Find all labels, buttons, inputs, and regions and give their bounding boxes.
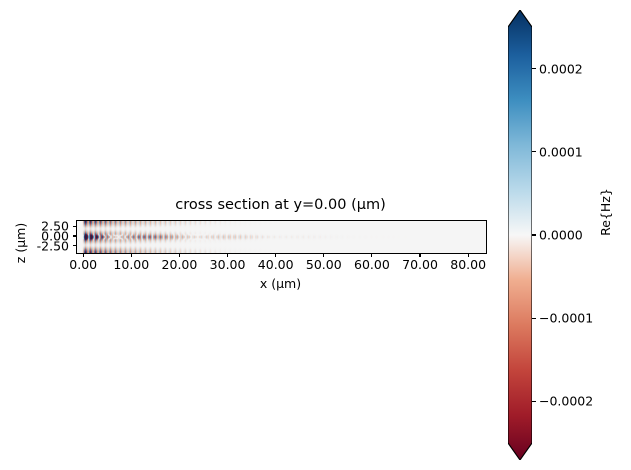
colorbar-tick-mark bbox=[532, 68, 536, 69]
colorbar-gradient bbox=[508, 10, 532, 460]
colorbar-tick-label: −0.0002 bbox=[539, 395, 593, 408]
colorbar-tick-label: 0.0000 bbox=[539, 229, 583, 242]
y-tick-label: -2.50 bbox=[37, 239, 69, 252]
x-tick-label: 40.00 bbox=[258, 257, 294, 272]
cross-section-heatmap-axes bbox=[76, 220, 487, 254]
x-tick-label: 10.00 bbox=[113, 257, 149, 272]
y-tick-mark bbox=[73, 245, 77, 246]
x-tick-label: 0.00 bbox=[69, 257, 97, 272]
colorbar-tick-label: 0.0001 bbox=[539, 145, 583, 158]
x-tick-label: 60.00 bbox=[354, 257, 390, 272]
colorbar-tick-label: −0.0001 bbox=[539, 312, 593, 325]
colorbar-tick-mark bbox=[532, 151, 536, 152]
x-tick-label: 30.00 bbox=[210, 257, 246, 272]
colorbar-tick-label: 0.0002 bbox=[539, 62, 583, 75]
colorbar-label: Re{Hz} bbox=[599, 172, 613, 252]
y-axis-label: z (μm) bbox=[14, 208, 28, 278]
y-tick-mark bbox=[73, 226, 77, 227]
colorbar-tick-mark bbox=[532, 234, 536, 235]
field-heatmap-image bbox=[77, 221, 486, 253]
x-tick-label: 80.00 bbox=[450, 257, 486, 272]
figure-canvas: cross section at y=0.00 (μm) 0.0010.0020… bbox=[0, 0, 631, 470]
x-tick-label: 70.00 bbox=[402, 257, 438, 272]
x-axis-label: x (μm) bbox=[76, 276, 485, 292]
colorbar bbox=[508, 10, 532, 460]
colorbar-tick-mark bbox=[532, 401, 536, 402]
x-tick-label: 50.00 bbox=[306, 257, 342, 272]
x-tick-label: 20.00 bbox=[162, 257, 198, 272]
colorbar-body bbox=[508, 10, 532, 460]
y-tick-mark bbox=[73, 235, 77, 236]
plot-title: cross section at y=0.00 (μm) bbox=[76, 196, 485, 214]
colorbar-tick-mark bbox=[532, 318, 536, 319]
